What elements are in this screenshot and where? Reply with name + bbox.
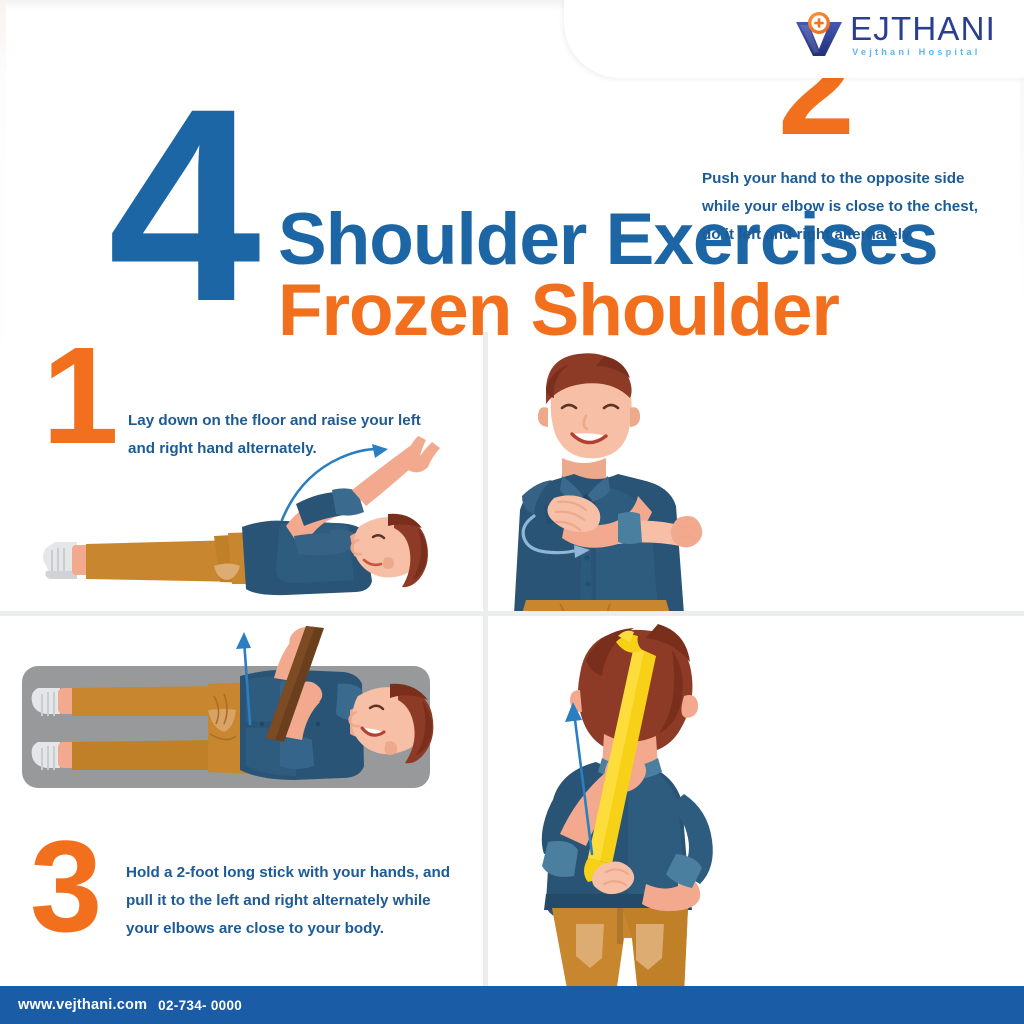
- footer-phone[interactable]: 02-734- 0000: [158, 998, 242, 1013]
- v-cross-logo-icon: [792, 12, 846, 58]
- vertical-divider: [483, 332, 488, 994]
- man-lying-raising-arm-illustration: [28, 432, 468, 614]
- step-number-3: 3: [30, 821, 102, 951]
- step-text-2: Push your hand to the opposite side whil…: [702, 165, 992, 249]
- step-panel-1: 1 Lay down on the floor and raise your l…: [0, 332, 483, 612]
- man-back-view-with-towel-illustration: [496, 620, 746, 994]
- infographic-poster: EJTHANI Vejthani Hospital 4 Shoulder Exe…: [0, 0, 1024, 1024]
- logo-tagline: Vejthani Hospital: [852, 48, 996, 57]
- footer-website[interactable]: www.vejthani.com: [18, 997, 147, 1013]
- logo-wordmark: EJTHANI: [850, 12, 996, 45]
- footer-bar: www.vejthani.com 02-734- 0000: [0, 986, 1024, 1024]
- vejthani-logo: EJTHANI Vejthani Hospital: [792, 12, 996, 58]
- step-text-3: Hold a 2-foot long stick with your hands…: [126, 859, 456, 943]
- horizontal-divider: [0, 611, 1024, 616]
- man-standing-cross-arm-illustration: [500, 346, 730, 614]
- title-number: 4: [108, 68, 249, 343]
- logo-text: EJTHANI Vejthani Hospital: [850, 12, 996, 57]
- step-panel-3: 3 Hold a 2-foot long stick with your han…: [0, 616, 483, 994]
- man-on-mat-with-stick-illustration: [12, 624, 442, 824]
- step-panel-4: 4 Hold a towel with your hands, and pull…: [488, 616, 1024, 994]
